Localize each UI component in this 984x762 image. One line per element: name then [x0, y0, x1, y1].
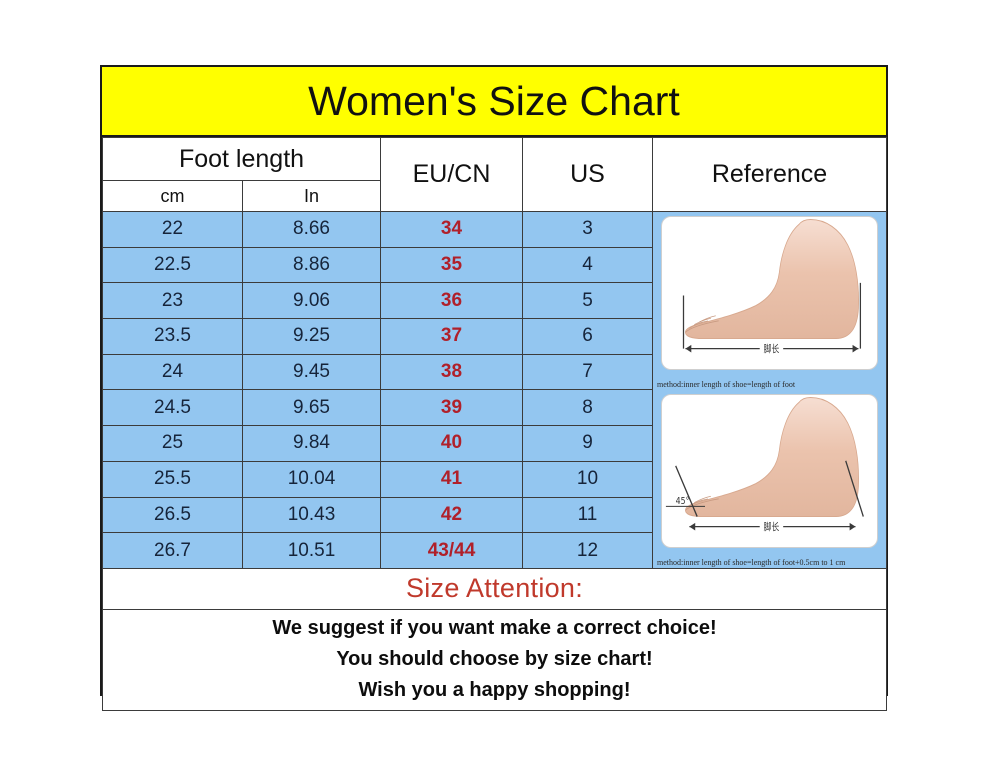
reference-caption-1: method:inner length of shoe=length of fo…	[657, 380, 884, 389]
header-cm: cm	[103, 181, 243, 212]
cell-us: 4	[523, 247, 653, 283]
cell-eu: 42	[381, 497, 523, 533]
cell-us: 6	[523, 319, 653, 355]
header-eu-cn: EU/CN	[381, 138, 523, 212]
cell-cm: 22.5	[103, 247, 243, 283]
cell-us: 3	[523, 212, 653, 248]
size-attention-row: Size Attention:	[103, 568, 887, 609]
cell-us: 9	[523, 426, 653, 462]
reference-diagram-2: 45° 脚长 method:inner length of shoe=lengt…	[653, 390, 886, 568]
page-title: Women's Size Chart	[308, 78, 680, 125]
cell-us: 11	[523, 497, 653, 533]
cell-cm: 24.5	[103, 390, 243, 426]
cell-us: 8	[523, 390, 653, 426]
measure-label-1: 脚长	[764, 342, 780, 355]
cell-eu: 36	[381, 283, 523, 319]
size-attention-heading: Size Attention:	[103, 568, 887, 609]
cell-in: 9.06	[243, 283, 381, 319]
cell-eu: 38	[381, 354, 523, 390]
cell-cm: 22	[103, 212, 243, 248]
foot-illustration-angled-svg: 45° 脚长	[662, 395, 877, 547]
cell-us: 7	[523, 354, 653, 390]
cell-eu: 37	[381, 319, 523, 355]
cell-eu: 43/44	[381, 533, 523, 569]
reference-diagram-1: 脚长 method:inner length of shoe=length of…	[653, 212, 886, 390]
chart-title-bar: Women's Size Chart	[102, 67, 886, 137]
cell-us: 12	[523, 533, 653, 569]
cell-eu: 39	[381, 390, 523, 426]
table-row: 22 8.66 34 3	[103, 212, 887, 248]
table-header-row-primary: Foot length EU/CN US Reference	[103, 138, 887, 181]
cell-cm: 25	[103, 426, 243, 462]
cell-cm: 25.5	[103, 461, 243, 497]
cell-cm: 23	[103, 283, 243, 319]
cell-cm: 26.7	[103, 533, 243, 569]
cell-us: 5	[523, 283, 653, 319]
measure-label-2: 脚长	[764, 520, 780, 533]
cell-us: 10	[523, 461, 653, 497]
header-us: US	[523, 138, 653, 212]
cell-in: 9.25	[243, 319, 381, 355]
cell-in: 9.45	[243, 354, 381, 390]
cell-in: 8.86	[243, 247, 381, 283]
foot-illustration-svg: 脚长	[662, 217, 877, 369]
size-advice-block: We suggest if you want make a correct ch…	[103, 609, 887, 710]
cell-in: 10.51	[243, 533, 381, 569]
cell-eu: 41	[381, 461, 523, 497]
header-reference: Reference	[653, 138, 887, 212]
foot-side-view-measure-icon: 脚长	[661, 216, 878, 370]
cell-in: 8.66	[243, 212, 381, 248]
cell-eu: 34	[381, 212, 523, 248]
reference-caption-2: method:inner length of shoe=length of fo…	[657, 558, 884, 567]
reference-cell: 脚长 method:inner length of shoe=length of…	[653, 212, 887, 569]
cell-in: 9.65	[243, 390, 381, 426]
size-chart-table: Foot length EU/CN US Reference cm In 22 …	[102, 137, 887, 711]
advice-line-3: Wish you a happy shopping!	[103, 675, 886, 706]
angle-label: 45°	[676, 496, 690, 507]
cell-in: 10.43	[243, 497, 381, 533]
advice-line-2: You should choose by size chart!	[103, 644, 886, 675]
header-in: In	[243, 181, 381, 212]
cell-eu: 35	[381, 247, 523, 283]
advice-line-1: We suggest if you want make a correct ch…	[103, 613, 886, 644]
cell-in: 10.04	[243, 461, 381, 497]
cell-cm: 23.5	[103, 319, 243, 355]
header-foot-length: Foot length	[103, 138, 381, 181]
foot-side-view-angled-measure-icon: 45° 脚长	[661, 394, 878, 548]
cell-eu: 40	[381, 426, 523, 462]
size-chart-frame: Women's Size Chart Foot length EU/CN US …	[100, 65, 888, 696]
cell-cm: 26.5	[103, 497, 243, 533]
cell-in: 9.84	[243, 426, 381, 462]
size-advice-row: We suggest if you want make a correct ch…	[103, 609, 887, 710]
cell-cm: 24	[103, 354, 243, 390]
